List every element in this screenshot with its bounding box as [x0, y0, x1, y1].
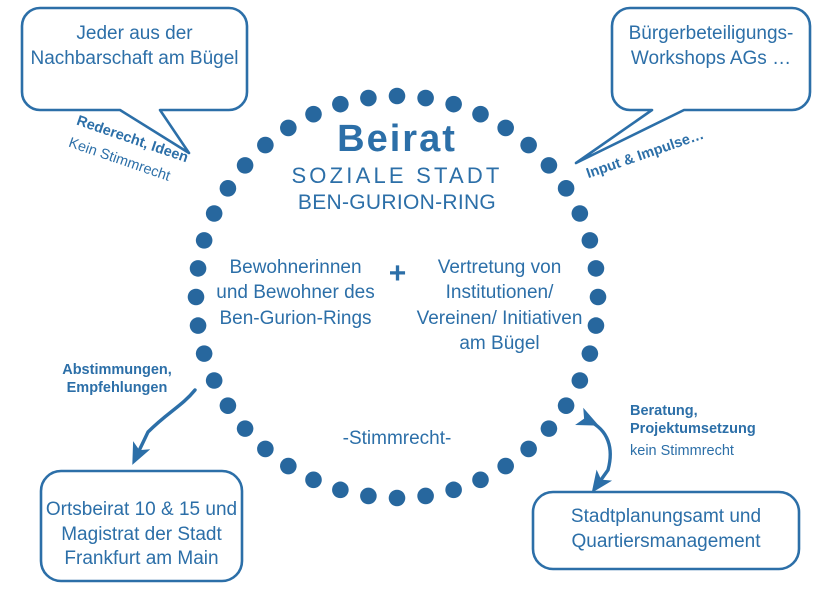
page-title: Beirat: [197, 120, 597, 158]
bubble-top-left-text: Jeder aus der Nachbarschaft am Bügel: [30, 22, 239, 71]
ring-dot: [417, 488, 434, 505]
ring-dot: [572, 372, 589, 389]
ring-dot: [332, 482, 349, 499]
arrow-abstimmungen: [137, 390, 195, 455]
ring-dot: [280, 458, 297, 475]
ring-dot: [472, 472, 489, 489]
ring-dot: [305, 472, 322, 489]
ring-dot: [582, 232, 599, 249]
ring-dot: [206, 372, 223, 389]
label-beratung-projektumsetzung: Beratung, Projektumsetzung: [630, 402, 798, 438]
center-title-block: Beirat SOZIALE STADT BEN-GURION-RING: [197, 120, 597, 213]
ring-dot: [360, 488, 377, 505]
center-column-right: Vertretung von Institutionen/ Vereinen/ …: [416, 255, 584, 357]
diagram-canvas: Jeder aus der Nachbarschaft am Bügel Red…: [0, 0, 820, 600]
ring-dot: [196, 232, 213, 249]
ring-dot: [417, 90, 434, 107]
bubble-top-right-text: Bürgerbeteiligungs- Workshops AGs …: [612, 22, 810, 71]
center-column-left: Bewohnerinnen und Bewohner des Ben-Gurio…: [212, 255, 380, 331]
ring-dot: [497, 458, 514, 475]
center-footer: -Stimmrecht-: [197, 428, 597, 450]
ring-dot: [220, 397, 237, 414]
center-subtitle-2: BEN-GURION-RING: [197, 192, 597, 213]
plus-icon: +: [380, 255, 416, 289]
ring-dot: [558, 397, 575, 414]
label-kein-stimmrecht-right: kein Stimmrecht: [630, 442, 798, 460]
ring-dot: [389, 88, 406, 105]
center-subtitle: SOZIALE STADT: [197, 165, 597, 187]
ring-dot: [445, 96, 462, 113]
label-abstimmungen-empfehlungen: Abstimmungen, Empfehlungen: [47, 361, 187, 397]
ring-dot: [389, 490, 406, 507]
ring-dot: [445, 482, 462, 499]
ring-dot: [360, 90, 377, 107]
ring-dot: [332, 96, 349, 113]
box-bottom-right-text: Stadtplanungsamt und Quartiersmanagement: [540, 505, 792, 554]
box-bottom-left-text: Ortsbeirat 10 & 15 und Magistrat der Sta…: [45, 498, 238, 572]
center-columns: Bewohnerinnen und Bewohner des Ben-Gurio…: [200, 255, 595, 357]
